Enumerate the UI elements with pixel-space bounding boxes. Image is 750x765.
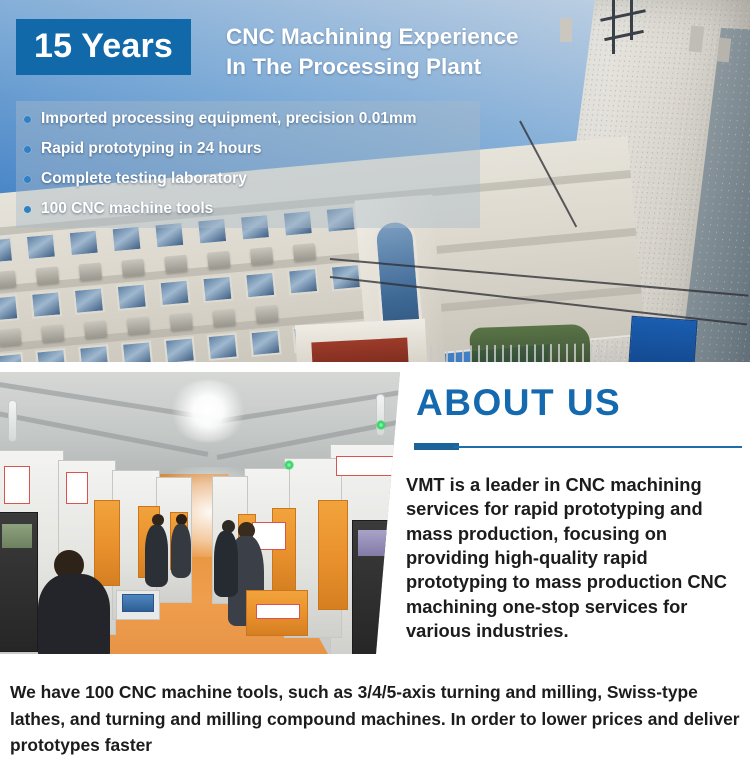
air-conditioner-unit xyxy=(84,320,107,338)
window xyxy=(78,344,110,362)
bullet-label: Complete testing laboratory xyxy=(41,170,247,188)
about-copy-block: ABOUT US VMT is a leader in CNC machinin… xyxy=(400,372,750,643)
air-conditioner-unit xyxy=(164,255,187,273)
cnc-display-screen xyxy=(358,530,390,556)
cnc-display-screen xyxy=(2,524,32,548)
air-conditioner-unit xyxy=(127,316,150,334)
air-conditioner-unit xyxy=(255,305,278,323)
list-item: Complete testing laboratory xyxy=(24,164,417,194)
window xyxy=(68,229,100,258)
window xyxy=(0,236,14,265)
bullet-label: Rapid prototyping in 24 hours xyxy=(41,140,261,158)
antenna-panel xyxy=(560,18,572,42)
machine-brand-label xyxy=(256,604,300,619)
worker-figure xyxy=(171,524,191,578)
bullet-label: 100 CNC machine tools xyxy=(41,200,213,218)
divider-line xyxy=(454,446,742,449)
machine-access-door xyxy=(318,500,348,610)
status-light-green xyxy=(284,460,294,470)
bullet-label: Imported processing equipment, precision… xyxy=(41,110,417,128)
air-conditioner-unit xyxy=(41,324,64,342)
window xyxy=(244,271,276,300)
worker-figure xyxy=(145,525,168,587)
window xyxy=(207,332,239,361)
air-conditioner-unit xyxy=(36,266,59,284)
air-conditioner-unit xyxy=(121,259,144,277)
about-section: ABOUT US VMT is a leader in CNC machinin… xyxy=(0,362,750,654)
bullet-dot-icon xyxy=(24,116,31,123)
window xyxy=(73,286,105,315)
worker-figure xyxy=(38,574,110,654)
window xyxy=(35,348,67,362)
air-conditioner-unit xyxy=(293,243,316,261)
list-item: Imported processing equipment, precision… xyxy=(24,104,417,134)
antenna-panel xyxy=(689,25,705,52)
signal-tower-light xyxy=(8,400,17,442)
air-conditioner-unit xyxy=(79,262,102,280)
machine-access-door xyxy=(94,500,120,586)
headline-line-1: CNC Machining Experience xyxy=(226,22,519,52)
bullet-dot-icon xyxy=(24,206,31,213)
window xyxy=(249,329,281,358)
status-light-green xyxy=(376,420,386,430)
workshop-photo xyxy=(0,372,400,654)
air-conditioner-unit xyxy=(212,309,235,327)
antenna-mast xyxy=(612,0,615,54)
bullet-dot-icon xyxy=(24,146,31,153)
signboard xyxy=(628,316,697,362)
banner-headline: CNC Machining Experience In The Processi… xyxy=(226,22,519,82)
bullet-dot-icon xyxy=(24,176,31,183)
machine-label-sheet xyxy=(336,456,396,476)
window xyxy=(30,290,62,319)
window xyxy=(201,275,233,304)
divider-accent xyxy=(414,443,459,450)
machine-label-sheet xyxy=(66,472,88,504)
building-entrance-door xyxy=(311,338,408,362)
window xyxy=(159,279,191,308)
machine-label-sheet xyxy=(4,466,30,504)
list-item: Rapid prototyping in 24 hours xyxy=(24,134,417,164)
window xyxy=(110,225,142,254)
window xyxy=(0,352,25,362)
air-conditioner-unit xyxy=(170,312,193,330)
footer-section: We have 100 CNC machine tools, such as 3… xyxy=(0,654,750,765)
air-conditioner-unit xyxy=(250,247,273,265)
window xyxy=(0,294,19,323)
window xyxy=(121,340,153,362)
page-title: ABOUT US xyxy=(416,384,750,421)
hero-banner: 15 Years CNC Machining Experience In The… xyxy=(0,0,750,362)
years-badge: 15 Years xyxy=(16,19,191,75)
air-conditioner-unit xyxy=(0,270,16,288)
window xyxy=(25,232,57,261)
headline-line-2: In The Processing Plant xyxy=(226,52,519,82)
window xyxy=(116,282,148,311)
title-divider xyxy=(414,443,744,451)
air-conditioner-unit xyxy=(207,251,230,269)
worker-figure xyxy=(214,531,238,597)
about-body-text: VMT is a leader in CNC machining service… xyxy=(406,473,750,643)
air-conditioner-unit xyxy=(0,328,22,346)
antenna-panel xyxy=(717,37,731,62)
ceiling-light xyxy=(168,380,248,442)
machine-access-door xyxy=(272,508,296,592)
footer-body-text: We have 100 CNC machine tools, such as 3… xyxy=(10,679,746,757)
window xyxy=(164,336,196,362)
parts-bin xyxy=(122,594,154,612)
window xyxy=(287,267,319,296)
list-item: 100 CNC machine tools xyxy=(24,194,417,224)
feature-bullet-list: Imported processing equipment, precision… xyxy=(24,104,417,224)
